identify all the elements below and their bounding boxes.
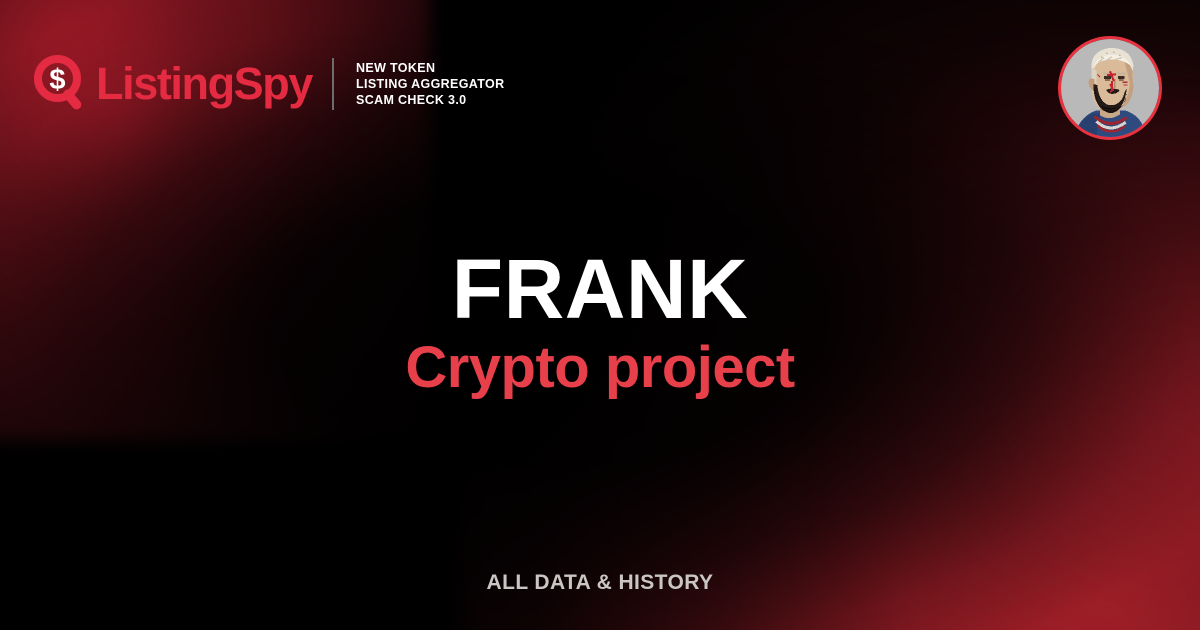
brand-logo[interactable]: $ ListingSpy NEW TOKEN LISTING AGGREGATO… xyxy=(34,55,504,113)
tagline-line-1: NEW TOKEN xyxy=(356,60,504,76)
page-title: FRANK xyxy=(0,248,1200,330)
brand-tagline: NEW TOKEN LISTING AGGREGATOR SCAM CHECK … xyxy=(356,60,504,108)
footer: ALL DATA & HISTORY xyxy=(0,571,1200,595)
brand-wordmark: ListingSpy xyxy=(96,61,312,106)
magnifier-dollar-icon: $ xyxy=(34,55,90,113)
tagline-line-3: SCAM CHECK 3.0 xyxy=(356,92,504,108)
share-card: $ ListingSpy NEW TOKEN LISTING AGGREGATO… xyxy=(0,0,1200,630)
footer-text: ALL DATA & HISTORY xyxy=(487,571,714,594)
page-subtitle: Crypto project xyxy=(0,336,1200,401)
header-divider xyxy=(332,58,334,110)
avatar[interactable] xyxy=(1058,36,1162,140)
tagline-line-2: LISTING AGGREGATOR xyxy=(356,76,504,92)
svg-text:$: $ xyxy=(49,64,65,96)
header: $ ListingSpy NEW TOKEN LISTING AGGREGATO… xyxy=(0,0,1200,170)
main-title-block: FRANK Crypto project xyxy=(0,248,1200,401)
